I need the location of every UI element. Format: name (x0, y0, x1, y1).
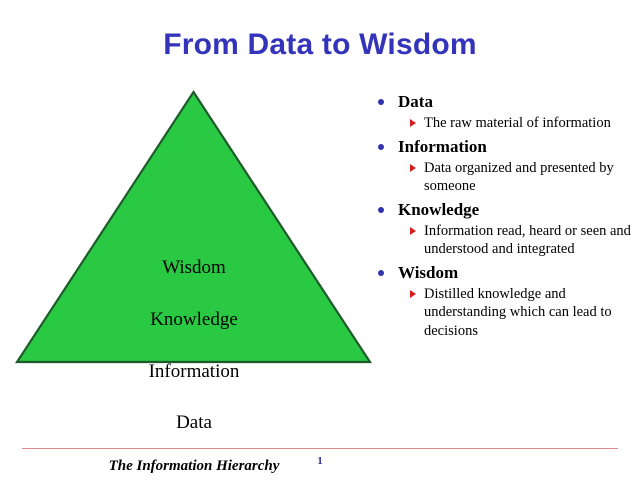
arrow-right-icon (410, 164, 416, 172)
bullet-label: Information (398, 137, 487, 156)
page-title: From Data to Wisdom (0, 28, 640, 62)
bullet-group-data: Data The raw material of information (374, 90, 632, 133)
sub-bullet-text: Distilled knowledge and understanding wh… (424, 286, 612, 339)
bullet-dot-icon (378, 144, 384, 150)
bullet-label: Knowledge (398, 200, 479, 219)
bullet-item-knowledge: Knowledge (374, 198, 632, 222)
bullet-item-information: Information (374, 135, 632, 159)
bullet-group-wisdom: Wisdom Distilled knowledge and understan… (374, 261, 632, 341)
pyramid-level-data: Data (8, 413, 380, 432)
sub-bullet-text: The raw material of information (424, 115, 611, 131)
pyramid-level-knowledge: Knowledge (8, 310, 380, 329)
sub-bullet-text: Data organized and presented by someone (424, 160, 614, 195)
definition-bullet-list: Data The raw material of information Inf… (374, 90, 632, 342)
sub-bullet-item-knowledge-1: Information read, heard or seen and unde… (374, 222, 632, 259)
sub-bullet-item-wisdom-1: Distilled knowledge and understanding wh… (374, 285, 632, 341)
bullet-label: Data (398, 92, 433, 111)
sub-bullet-item-information-1: Data organized and presented by someone (374, 159, 632, 196)
pyramid-level-information: Information (8, 362, 380, 381)
bullet-dot-icon (378, 270, 384, 276)
bullet-label: Wisdom (398, 263, 458, 282)
information-hierarchy-diagram: Wisdom Knowledge Information Data The In… (8, 88, 380, 400)
slide-canvas: { "slide": { "title": "From Data to Wisd… (0, 0, 640, 480)
pyramid-level-wisdom: Wisdom (8, 258, 380, 277)
bullet-dot-icon (378, 207, 384, 213)
bullet-dot-icon (378, 99, 384, 105)
bullet-group-information: Information Data organized and presented… (374, 135, 632, 196)
bullet-item-wisdom: Wisdom (374, 261, 632, 285)
page-number: 1 (0, 455, 640, 467)
arrow-right-icon (410, 119, 416, 127)
arrow-right-icon (410, 227, 416, 235)
sub-bullet-text: Information read, heard or seen and unde… (424, 223, 631, 258)
bullet-group-knowledge: Knowledge Information read, heard or see… (374, 198, 632, 259)
bullet-item-data: Data (374, 90, 632, 114)
sub-bullet-item-data-1: The raw material of information (374, 114, 632, 133)
footer-divider (22, 448, 618, 449)
arrow-right-icon (410, 290, 416, 298)
